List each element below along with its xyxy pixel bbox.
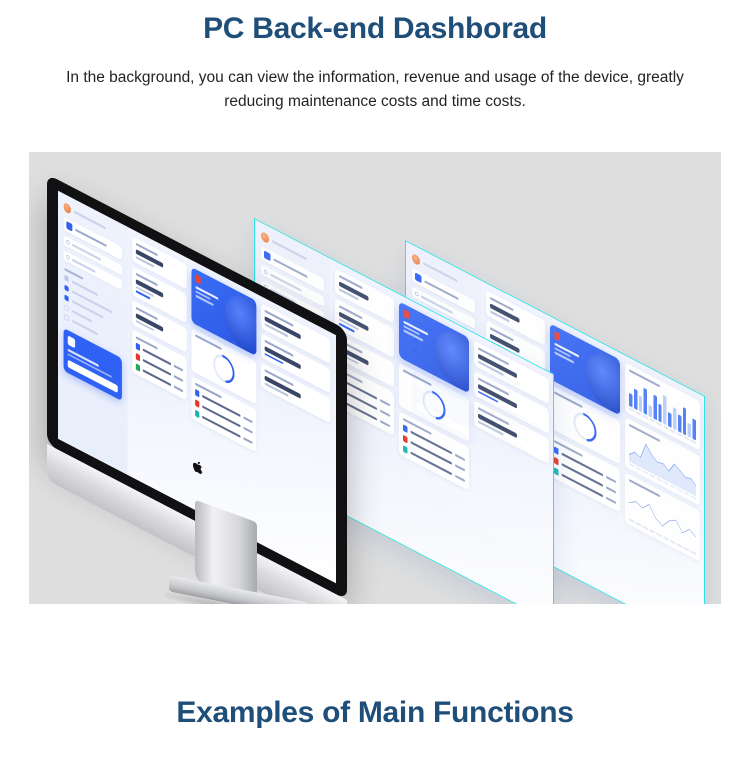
search-icon xyxy=(415,291,419,297)
filter-icon xyxy=(66,254,69,260)
info-icon xyxy=(403,445,408,454)
badge-icon xyxy=(555,331,561,341)
section-title: Examples of Main Functions xyxy=(0,696,750,730)
gauge-chart xyxy=(418,385,450,425)
page-title: PC Back-end Dashborad xyxy=(0,12,750,46)
badge-icon xyxy=(404,309,410,319)
devices-icon xyxy=(64,285,68,292)
avatar[interactable] xyxy=(412,253,420,266)
upgrade-icon xyxy=(68,335,75,348)
alert-icon xyxy=(554,457,559,466)
app-logo-icon xyxy=(66,221,72,232)
info-icon xyxy=(195,410,199,419)
reports-icon xyxy=(64,304,68,311)
gauge-chart xyxy=(209,349,239,389)
revenue-icon xyxy=(64,294,68,301)
file-icon xyxy=(554,446,559,455)
decor-swirl xyxy=(225,287,257,356)
file-icon xyxy=(403,424,408,433)
imac-stand xyxy=(165,511,315,604)
search-icon xyxy=(66,239,69,245)
dashboard-icon xyxy=(64,275,68,282)
avatar[interactable] xyxy=(64,202,71,215)
badge-icon xyxy=(196,274,201,284)
app-logo-icon xyxy=(415,272,422,283)
alert-icon xyxy=(195,399,199,408)
dashboard-sidebar xyxy=(58,191,127,475)
alert-icon xyxy=(136,353,140,362)
info-icon xyxy=(554,467,559,476)
gauge-chart xyxy=(569,407,601,447)
page-root: PC Back-end Dashborad In the background,… xyxy=(0,0,750,767)
alert-icon xyxy=(403,435,408,444)
success-icon xyxy=(136,363,140,372)
file-icon xyxy=(195,389,199,398)
file-icon xyxy=(136,342,140,351)
device-showcase-stage xyxy=(29,152,721,604)
imac-device xyxy=(47,174,377,594)
settings-icon xyxy=(64,314,68,321)
page-subtitle: In the background, you can view the info… xyxy=(50,66,700,114)
